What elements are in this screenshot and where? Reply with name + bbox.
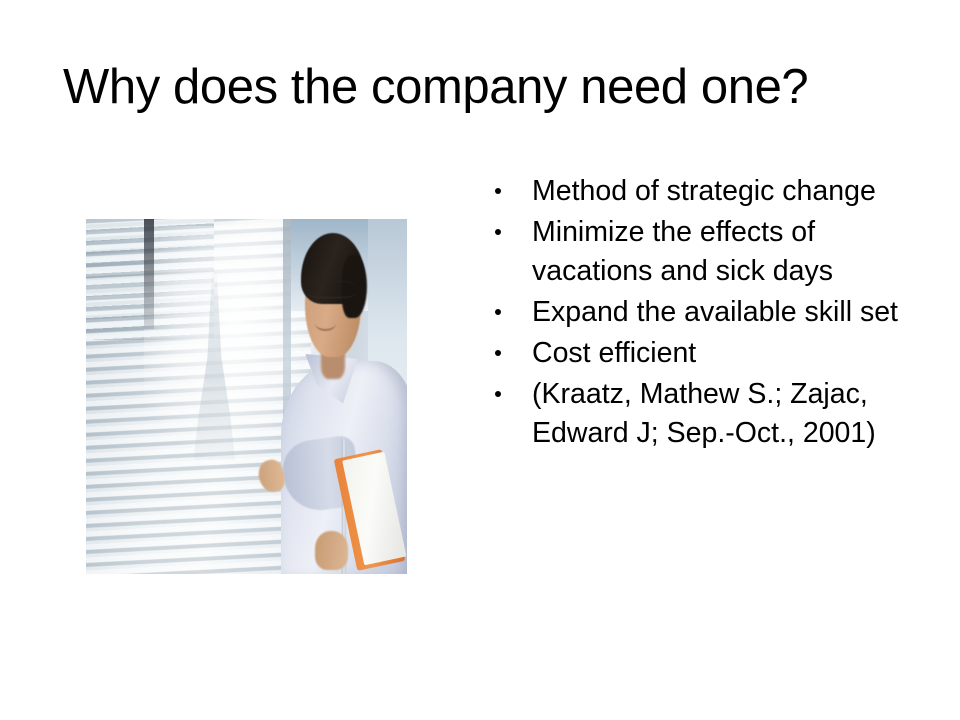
list-item: (Kraatz, Mathew S.; Zajac, Edward J; Sep… [489, 375, 909, 453]
slide: Why does the company need one? [0, 0, 960, 720]
list-item: Method of strategic change [489, 172, 909, 211]
man-smile [315, 315, 337, 331]
list-item: Minimize the effects of vacations and si… [489, 213, 909, 291]
list-item: Cost efficient [489, 334, 909, 373]
page-title: Why does the company need one? [63, 58, 913, 116]
slide-photo [86, 219, 407, 574]
list-item-label: Minimize the effects of vacations and si… [532, 216, 833, 287]
glasses-icon [308, 281, 356, 298]
bullet-dot-icon [495, 188, 501, 194]
list-item-label: Cost efficient [532, 337, 696, 369]
bullet-dot-icon [495, 229, 501, 235]
bullet-dot-icon [495, 391, 501, 397]
window-frame-left [144, 219, 154, 329]
bullet-dot-icon [495, 309, 501, 315]
man-hand-right [315, 531, 349, 570]
list-item: Expand the available skill set [489, 293, 909, 332]
list-item-label: Expand the available skill set [532, 296, 898, 328]
list-item-label: (Kraatz, Mathew S.; Zajac, Edward J; Sep… [532, 378, 876, 449]
bullet-dot-icon [495, 350, 501, 356]
list-item-label: Method of strategic change [532, 175, 876, 207]
businessman-figure [253, 219, 407, 574]
bullet-list: Method of strategic change Minimize the … [489, 172, 909, 455]
